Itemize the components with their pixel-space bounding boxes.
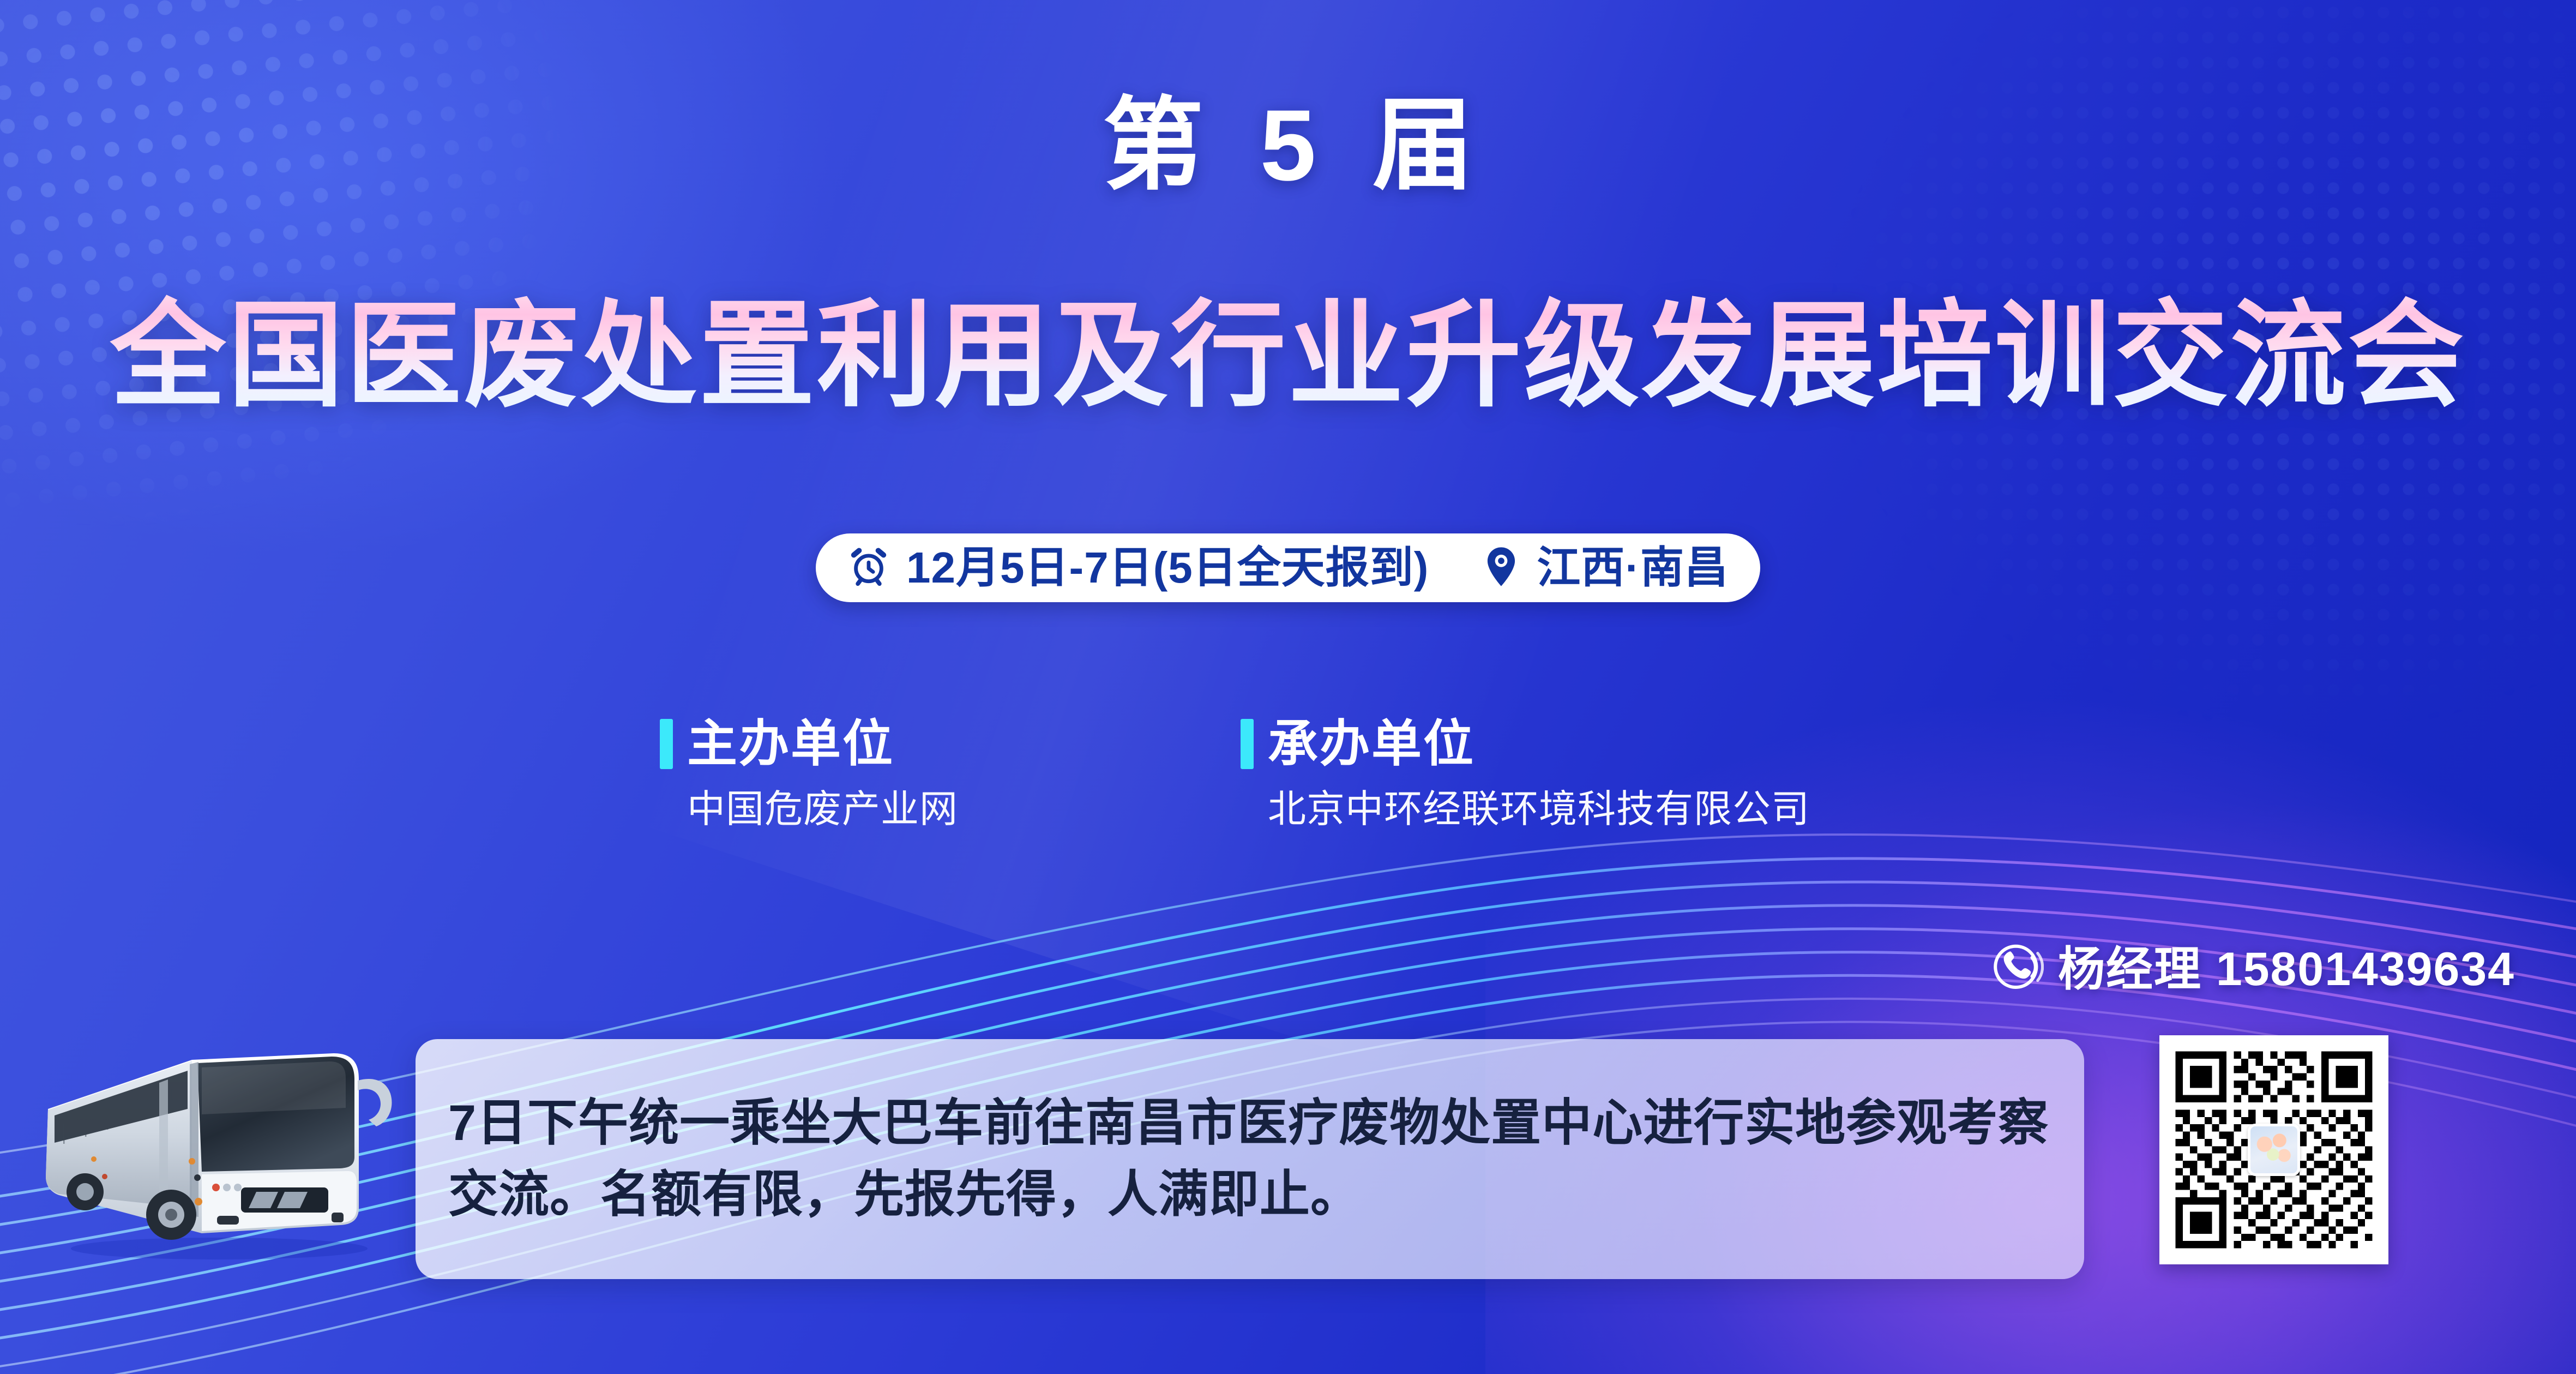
page-title: 全国医废处置利用及行业升级发展培训交流会 [0, 295, 2576, 417]
co-organizer-name: 北京中环经联环境科技有限公司 [1268, 790, 1810, 828]
cyan-accent-bar [660, 719, 673, 769]
host-organizer-block: 主办单位 中国危废产业网 [660, 719, 958, 828]
co-organizer-role: 承办单位 [1268, 719, 1475, 769]
notice-text: 7日下午统一乘坐大巴车前往南昌市医疗废物处置中心进行实地参观考察交流。名额有限，… [416, 1088, 2084, 1230]
host-organizer-header: 主办单位 [660, 719, 958, 769]
cyan-accent-bar [1241, 719, 1254, 769]
poster-banner: 第 5 届 全国医废处置利用及行业升级发展培训交流会 12月5日-7日(5日全天… [0, 0, 2576, 1374]
co-organizer-header: 承办单位 [1241, 719, 1810, 769]
contact-text: 杨经理 15801439634 [2058, 946, 2515, 993]
host-organizer-role: 主办单位 [687, 719, 894, 769]
edition-title: 第 5 届 [0, 95, 2576, 196]
wechat-qr-code[interactable] [2159, 1035, 2388, 1264]
date-location-badge: 12月5日-7日(5日全天报到) 江西·南昌 [816, 533, 1760, 602]
qr-center-avatar [2248, 1124, 2300, 1176]
coach-bus-illustration [28, 1028, 410, 1263]
notice-panel: 7日下午统一乘坐大巴车前往南昌市医疗废物处置中心进行实地参观考察交流。名额有限，… [416, 1039, 2084, 1279]
co-organizer-block: 承办单位 北京中环经联环境科技有限公司 [1241, 719, 1810, 828]
host-organizer-name: 中国危废产业网 [687, 790, 958, 828]
event-location: 江西·南昌 [1537, 547, 1729, 589]
alarm-clock-icon [847, 545, 890, 591]
contact-info[interactable]: 杨经理 15801439634 [1991, 941, 2515, 997]
location-pin-icon [1482, 545, 1520, 591]
telephone-icon [1991, 941, 2044, 997]
event-date: 12月5日-7日(5日全天报到) [906, 547, 1429, 589]
